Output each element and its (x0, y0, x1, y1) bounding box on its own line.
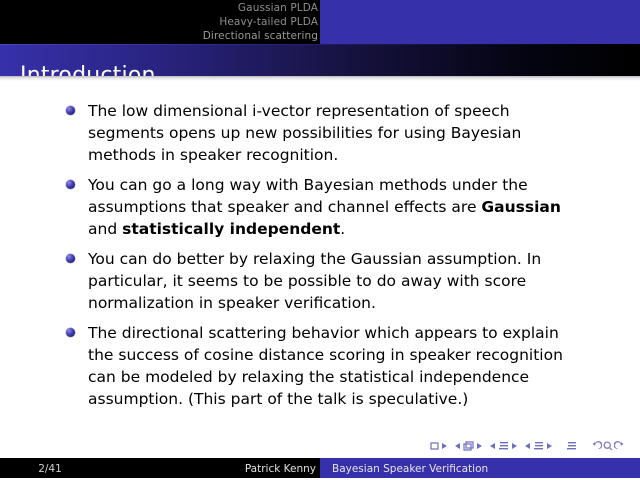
section-icon[interactable] (532, 440, 545, 452)
footer-presentation-title: Bayesian Speaker Verification (332, 458, 488, 480)
list-item: The low dimensional i-vector representat… (64, 100, 584, 166)
frame-icon[interactable] (462, 440, 475, 452)
subsection-forward-icon[interactable] (510, 440, 518, 452)
section-navigation-list: Gaussian PLDA Heavy-tailed PLDA Directio… (0, 1, 318, 43)
list-item-text: You can go a long way with Bayesian meth… (88, 176, 561, 238)
headline-navigation-bar: Gaussian PLDA Heavy-tailed PLDA Directio… (0, 0, 640, 44)
forward-icon[interactable] (614, 440, 626, 452)
bullet-list: The low dimensional i-vector representat… (64, 100, 584, 418)
nav-section-directional-scattering[interactable]: Directional scattering (0, 29, 318, 43)
frame-back-icon[interactable] (454, 440, 462, 452)
subsection-icon[interactable] (497, 440, 510, 452)
list-item-text: You can do better by relaxing the Gaussi… (88, 250, 541, 312)
bullet-icon (66, 106, 75, 115)
footer-page-number: 2/41 (0, 458, 100, 480)
slide-content: The low dimensional i-vector representat… (0, 86, 640, 451)
search-icon[interactable] (602, 440, 614, 452)
back-icon[interactable] (590, 440, 602, 452)
list-item-text: The directional scattering behavior whic… (88, 324, 563, 408)
navgroup-section (524, 440, 553, 452)
beamer-navigation-symbols (429, 438, 626, 454)
section-forward-icon[interactable] (545, 440, 553, 452)
frame-title-bar-shadow (0, 76, 640, 81)
bullet-icon (66, 254, 75, 263)
navgroup-slide (429, 440, 448, 452)
slide-icon[interactable] (429, 440, 440, 452)
nav-section-heavy-tailed-plda[interactable]: Heavy-tailed PLDA (0, 15, 318, 29)
presentation-icon[interactable] (565, 440, 578, 452)
navgroup-subsection (489, 440, 518, 452)
section-back-icon[interactable] (524, 440, 532, 452)
frame-title-bar-highlight (0, 44, 640, 45)
bullet-icon (66, 328, 75, 337)
list-item: You can go a long way with Bayesian meth… (64, 174, 584, 240)
subsection-back-icon[interactable] (489, 440, 497, 452)
navgroup-frame (454, 440, 483, 452)
footer-author: Patrick Kenny (100, 458, 316, 480)
headline-accent-fill (320, 0, 640, 44)
footer-bar: 2/41 Patrick Kenny Bayesian Speaker Veri… (0, 458, 640, 480)
nav-section-gaussian-plda[interactable]: Gaussian PLDA (0, 1, 318, 15)
frame-forward-icon[interactable] (475, 440, 483, 452)
slide-forward-icon[interactable] (440, 440, 448, 452)
list-item-text: The low dimensional i-vector representat… (88, 102, 521, 164)
bullet-icon (66, 180, 75, 189)
list-item: You can do better by relaxing the Gaussi… (64, 248, 584, 314)
list-item: The directional scattering behavior whic… (64, 322, 584, 410)
